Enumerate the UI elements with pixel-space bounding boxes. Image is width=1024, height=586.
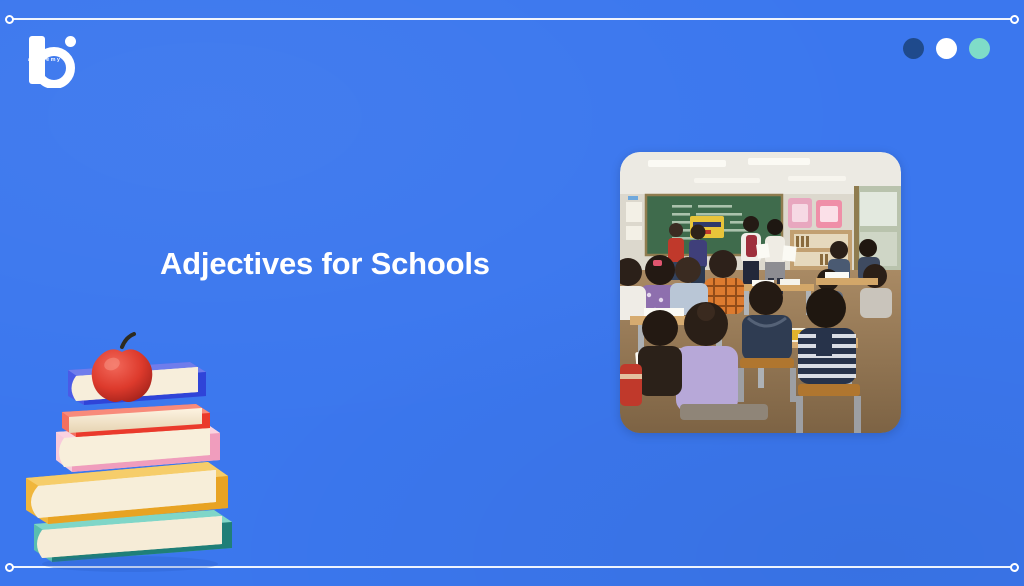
brand-logo: academy: [26, 32, 98, 88]
bottom-divider-cap-left: [5, 563, 14, 572]
top-divider-cap-right: [1010, 15, 1019, 24]
classroom-presentation-photo: [620, 152, 901, 433]
logo-wordmark: academy: [28, 57, 61, 63]
classroom-scene-illustration: [620, 152, 901, 433]
dot-cluster: [903, 38, 990, 59]
books-illustration: [18, 312, 244, 574]
slide-canvas: academy Adjectives for Schools: [0, 0, 1024, 586]
top-divider-cap-left: [5, 15, 14, 24]
stack-of-books-with-apple: [18, 312, 244, 574]
bottom-divider-cap-right: [1010, 563, 1019, 572]
dot-white: [936, 38, 957, 59]
slide-title: Adjectives for Schools: [160, 245, 490, 282]
apple-icon: [92, 334, 153, 402]
dot-navy: [903, 38, 924, 59]
top-divider: [10, 18, 1014, 20]
dot-mint: [969, 38, 990, 59]
